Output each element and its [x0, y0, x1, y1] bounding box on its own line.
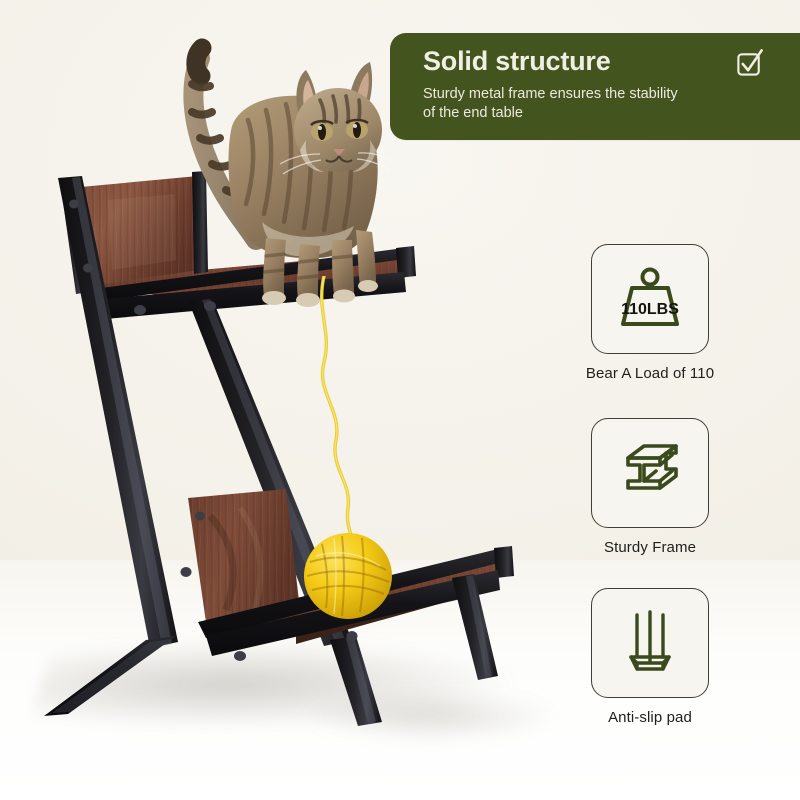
- feature-card-load[interactable]: 110LBS: [591, 244, 709, 354]
- yarn-string: [290, 276, 420, 556]
- feature-bear-load[interactable]: 110LBS Bear A Load of 110: [560, 244, 740, 382]
- product-image-stage: Solid structure Sturdy metal frame ensur…: [0, 0, 800, 800]
- yarn-ball: [296, 524, 400, 622]
- feature-label-frame: Sturdy Frame: [560, 539, 740, 556]
- feature-label-load: Bear A Load of 110: [560, 365, 740, 382]
- tabby-cat: [170, 8, 400, 308]
- weight-icon: 110LBS: [611, 264, 689, 334]
- banner-title: Solid structure: [423, 46, 611, 77]
- banner-subtitle: Sturdy metal frame ensures the stability…: [423, 85, 693, 123]
- solid-structure-banner: Solid structure Sturdy metal frame ensur…: [390, 33, 800, 140]
- frame-bottom-rail: [44, 636, 176, 716]
- feature-card-frame[interactable]: [591, 418, 709, 528]
- feature-label-pad: Anti-slip pad: [560, 709, 740, 726]
- feature-anti-slip-pad[interactable]: Anti-slip pad: [560, 588, 740, 726]
- feature-card-pad[interactable]: [591, 588, 709, 698]
- frame-leg-rear-right: [330, 636, 382, 726]
- anti-slip-pad-icon: [617, 607, 683, 679]
- feature-sturdy-frame[interactable]: Sturdy Frame: [560, 418, 740, 556]
- i-beam-icon: [614, 438, 686, 508]
- weight-icon-text: 110LBS: [621, 301, 679, 318]
- checked-checkbox-icon: [735, 47, 766, 78]
